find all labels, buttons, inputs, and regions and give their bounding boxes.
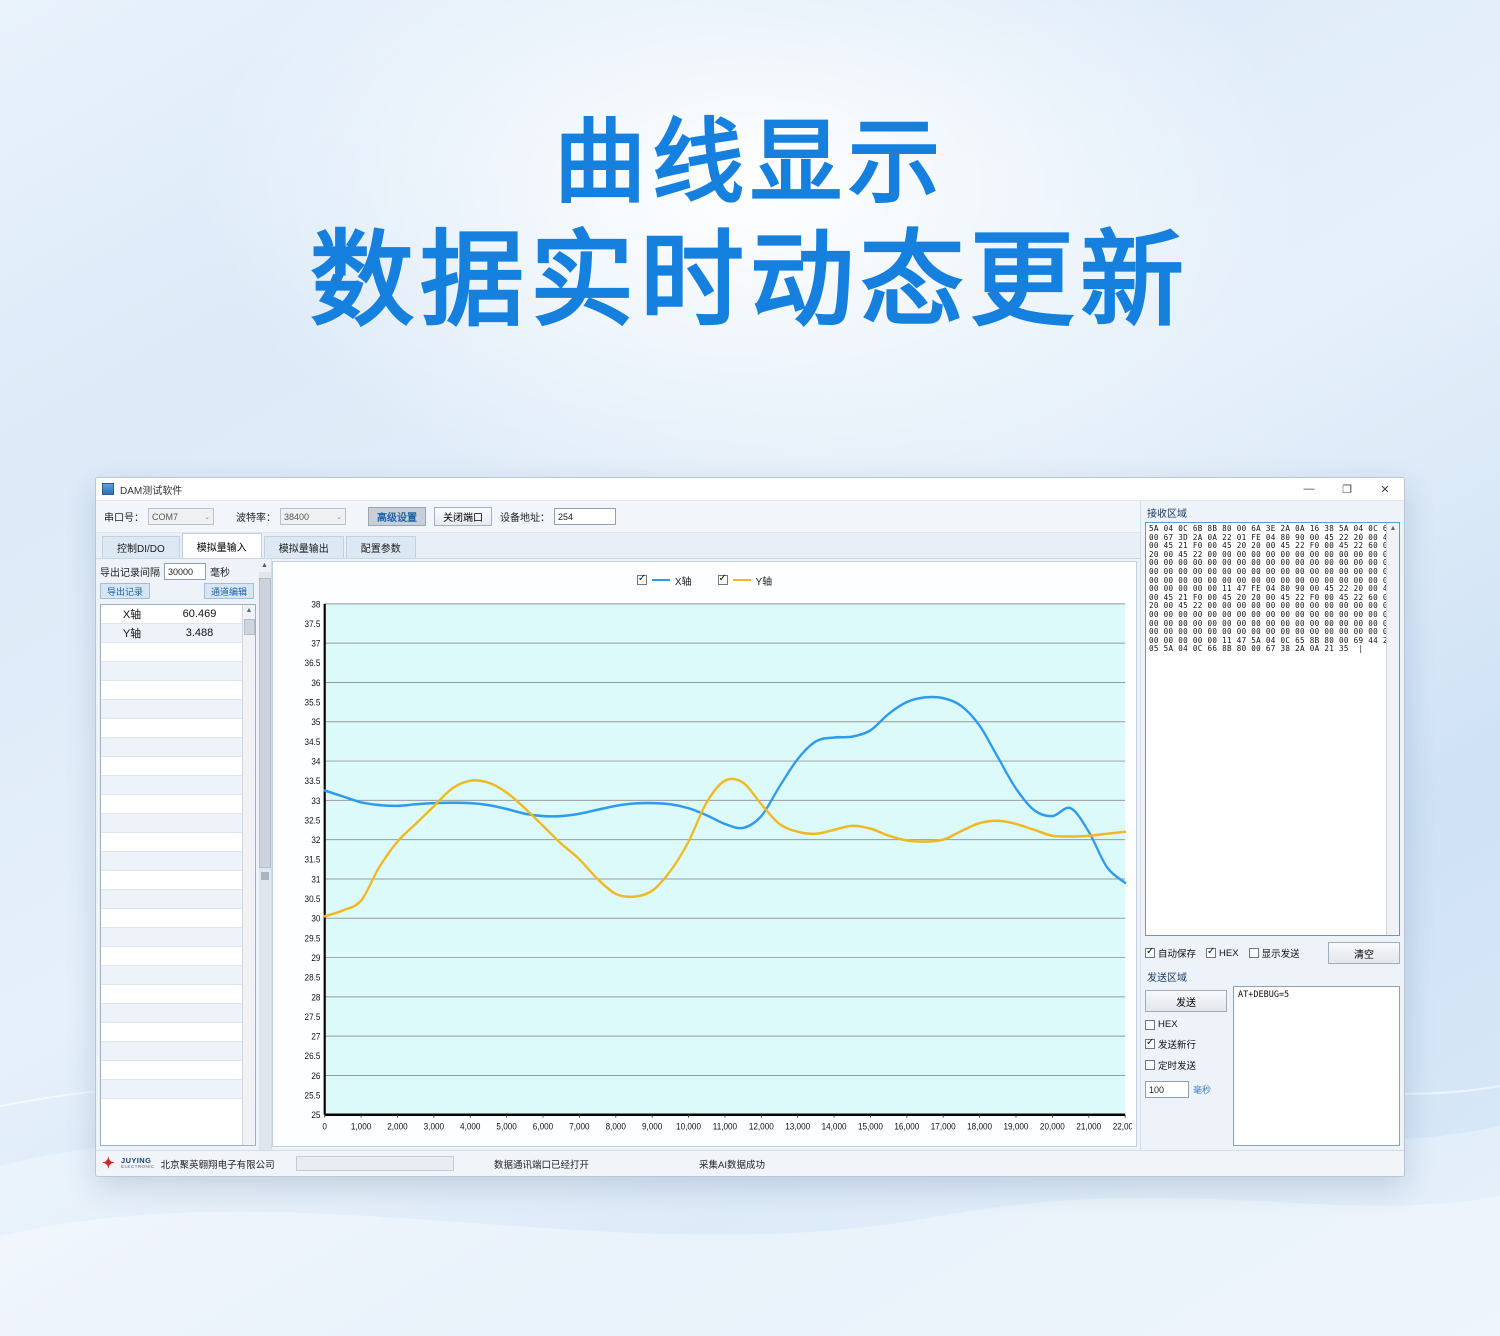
table-row[interactable]: X轴 60.469 — [101, 605, 242, 624]
table-row-empty — [101, 966, 242, 985]
scrollbar-thumb[interactable] — [259, 578, 271, 868]
table-row-empty — [101, 928, 242, 947]
receive-hex-label: HEX — [1219, 948, 1239, 959]
channel-edit-button[interactable]: 通道编辑 — [204, 583, 254, 599]
table-row-empty — [101, 1023, 242, 1042]
legend-checkbox-x-icon[interactable] — [637, 575, 647, 585]
table-row-empty — [101, 700, 242, 719]
sidebar-actions: 导出记录 通道编辑 — [100, 583, 254, 599]
svg-text:37.5: 37.5 — [305, 618, 321, 629]
title-bar: DAM测试软件 — ❐ ✕ — [96, 478, 1404, 501]
svg-text:17,000: 17,000 — [931, 1121, 956, 1132]
advanced-settings-button[interactable]: 高级设置 — [368, 507, 426, 526]
svg-text:18,000: 18,000 — [967, 1121, 992, 1132]
tab-config-params[interactable]: 配置参数 — [346, 536, 416, 558]
close-icon[interactable]: ✕ — [1366, 478, 1404, 501]
table-row-empty — [101, 662, 242, 681]
table-row-empty — [101, 757, 242, 776]
chart-plot-area[interactable]: 2525.52626.52727.52828.52929.53030.53131… — [273, 598, 1136, 1146]
send-interval-input[interactable]: 100 — [1145, 1081, 1189, 1098]
svg-text:25: 25 — [311, 1110, 320, 1121]
maximize-icon[interactable]: ❐ — [1328, 478, 1366, 501]
svg-text:33.5: 33.5 — [305, 776, 321, 787]
tab-content: 导出记录间隔 30000 毫秒 导出记录 通道编辑 X轴 60.469 — [96, 559, 1140, 1150]
timed-send-label: 定时发送 — [1158, 1058, 1196, 1072]
table-row-empty — [101, 1042, 242, 1061]
svg-text:7,000: 7,000 — [569, 1121, 590, 1132]
table-row-empty — [101, 909, 242, 928]
svg-text:9,000: 9,000 — [642, 1121, 663, 1132]
table-row-empty — [101, 985, 242, 1004]
logo-subtitle: ELECTRONIC — [121, 1165, 155, 1170]
send-group-title: 发送区域 — [1147, 969, 1400, 984]
svg-text:33: 33 — [311, 795, 320, 806]
chart-vertical-scrollbar[interactable]: ▲ — [258, 559, 272, 1150]
svg-text:10,000: 10,000 — [676, 1121, 701, 1132]
svg-text:11,000: 11,000 — [713, 1121, 737, 1132]
table-row-empty — [101, 681, 242, 700]
table-row-empty — [101, 719, 242, 738]
svg-text:28.5: 28.5 — [305, 972, 321, 983]
channel-name: Y轴 — [101, 625, 163, 641]
show-send-label: 显示发送 — [1262, 946, 1300, 960]
svg-text:14,000: 14,000 — [822, 1121, 847, 1132]
scrollbar-grip[interactable] — [261, 872, 269, 880]
table-row-empty — [101, 1004, 242, 1023]
auto-save-label: 自动保存 — [1158, 946, 1196, 960]
baud-select[interactable]: 38400 ⌄ — [280, 508, 346, 525]
channel-value: 60.469 — [163, 608, 242, 620]
svg-text:6,000: 6,000 — [533, 1121, 554, 1132]
svg-text:0: 0 — [322, 1121, 327, 1132]
table-row-empty — [101, 871, 242, 890]
channel-table-scrollbar[interactable]: ▲ — [242, 605, 255, 1145]
timed-send-checkbox[interactable]: 定时发送 — [1145, 1058, 1219, 1072]
device-address-input[interactable]: 254 — [554, 508, 616, 525]
app-window: DAM测试软件 — ❐ ✕ 串口号： COM7 ⌄ 波特率： 38400 ⌄ 高… — [95, 477, 1405, 1177]
svg-text:31: 31 — [311, 874, 320, 885]
status-bar: ✦ JUYING ELECTRONIC 北京聚英翱翔电子有限公司 数据通讯端口已… — [96, 1150, 1404, 1176]
receive-hex-content: 5A 04 0C 6B 8B 80 00 6A 3E 2A 0A 16 38 5… — [1146, 523, 1386, 935]
svg-text:5,000: 5,000 — [496, 1121, 517, 1132]
checkbox-unchecked-icon — [1249, 948, 1259, 958]
auto-save-checkbox[interactable]: 自动保存 — [1145, 946, 1196, 960]
send-hex-checkbox[interactable]: HEX — [1145, 1019, 1219, 1030]
svg-text:20,000: 20,000 — [1040, 1121, 1065, 1132]
svg-text:35.5: 35.5 — [305, 697, 321, 708]
status-message-ai: 采集AI数据成功 — [699, 1157, 765, 1171]
table-row-empty — [101, 1080, 242, 1099]
svg-text:4,000: 4,000 — [460, 1121, 481, 1132]
export-record-button[interactable]: 导出记录 — [100, 583, 150, 599]
send-interval-unit: 毫秒 — [1193, 1083, 1211, 1096]
send-interval-row: 100 毫秒 — [1145, 1081, 1227, 1098]
svg-text:29.5: 29.5 — [305, 933, 321, 944]
send-button[interactable]: 发送 — [1145, 990, 1227, 1012]
receive-hex-checkbox[interactable]: HEX — [1206, 948, 1239, 959]
send-newline-label: 发送新行 — [1158, 1037, 1196, 1051]
juying-logo-icon: ✦ — [102, 1156, 117, 1171]
port-value: COM7 — [152, 512, 204, 522]
scrollbar-thumb[interactable] — [244, 619, 255, 635]
checkbox-unchecked-icon — [1145, 1020, 1155, 1030]
send-hex-label: HEX — [1158, 1019, 1178, 1030]
legend-item-x[interactable]: X轴 — [637, 573, 692, 588]
scroll-up-icon[interactable]: ▲ — [1390, 523, 1397, 535]
checkbox-checked-icon — [1206, 948, 1216, 958]
headline-line-1: 曲线显示 — [0, 112, 1500, 215]
table-row-empty — [101, 738, 242, 757]
status-progress-field — [296, 1156, 454, 1171]
svg-text:3,000: 3,000 — [424, 1121, 445, 1132]
send-textarea[interactable]: AT+DEBUG=5 — [1233, 986, 1400, 1146]
logo-text: JUYING ELECTRONIC — [121, 1157, 155, 1169]
svg-text:21,000: 21,000 — [1076, 1121, 1101, 1132]
checkbox-checked-icon — [1145, 948, 1155, 958]
serial-monitor-pane: 接收区域 5A 04 0C 6B 8B 80 00 6A 3E 2A 0A 16… — [1140, 501, 1404, 1150]
export-interval-label: 导出记录间隔 — [100, 564, 160, 579]
svg-text:36.5: 36.5 — [305, 658, 321, 669]
receive-textarea[interactable]: 5A 04 0C 6B 8B 80 00 6A 3E 2A 0A 16 38 5… — [1145, 522, 1400, 936]
send-newline-checkbox[interactable]: 发送新行 — [1145, 1037, 1219, 1051]
checkbox-unchecked-icon — [1145, 1060, 1155, 1070]
channel-sidebar: 导出记录间隔 30000 毫秒 导出记录 通道编辑 X轴 60.469 — [96, 559, 258, 1150]
tab-analog-output[interactable]: 模拟量输出 — [264, 536, 344, 558]
window-body: 串口号： COM7 ⌄ 波特率： 38400 ⌄ 高级设置 关闭端口 设备地址：… — [96, 501, 1404, 1150]
svg-text:1,000: 1,000 — [351, 1121, 372, 1132]
left-pane: 串口号： COM7 ⌄ 波特率： 38400 ⌄ 高级设置 关闭端口 设备地址：… — [96, 501, 1140, 1150]
svg-text:12,000: 12,000 — [749, 1121, 774, 1132]
legend-label-y: Y轴 — [756, 573, 773, 588]
receive-options: 自动保存 HEX 显示发送 清空 — [1145, 942, 1400, 964]
table-row-empty — [101, 776, 242, 795]
clear-button[interactable]: 清空 — [1328, 942, 1400, 964]
svg-text:34.5: 34.5 — [305, 736, 321, 747]
svg-text:19,000: 19,000 — [1004, 1121, 1029, 1132]
table-row-empty — [101, 795, 242, 814]
headline-line-2: 数据实时动态更新 — [0, 223, 1500, 339]
svg-text:35: 35 — [311, 717, 320, 728]
table-row-empty — [101, 947, 242, 966]
device-address-label: 设备地址： — [500, 509, 550, 524]
channel-name: X轴 — [101, 606, 163, 622]
svg-text:2,000: 2,000 — [387, 1121, 408, 1132]
export-interval-input[interactable]: 30000 — [164, 563, 206, 580]
svg-text:16,000: 16,000 — [894, 1121, 919, 1132]
svg-text:27.5: 27.5 — [305, 1011, 321, 1022]
svg-text:38: 38 — [311, 599, 320, 610]
svg-text:28: 28 — [311, 992, 320, 1003]
port-label: 串口号： — [104, 509, 144, 524]
table-row-empty — [101, 814, 242, 833]
svg-text:30: 30 — [311, 913, 320, 924]
svg-text:13,000: 13,000 — [785, 1121, 810, 1132]
company-name: 北京聚英翱翔电子有限公司 — [161, 1157, 275, 1171]
export-interval-unit: 毫秒 — [210, 564, 230, 579]
svg-text:37: 37 — [311, 638, 320, 649]
channel-table: X轴 60.469 Y轴 3.488 — [101, 605, 242, 1145]
channel-table-wrapper: X轴 60.469 Y轴 3.488 — [100, 604, 256, 1146]
status-message-port: 数据通讯端口已经打开 — [494, 1157, 589, 1171]
window-title: DAM测试软件 — [120, 482, 182, 497]
baud-value: 38400 — [284, 512, 336, 522]
legend-checkbox-y-icon[interactable] — [718, 575, 728, 585]
close-port-button[interactable]: 关闭端口 — [434, 507, 492, 526]
chevron-down-icon: ⌄ — [336, 513, 342, 521]
receive-scrollbar[interactable]: ▲ — [1386, 523, 1399, 935]
checkbox-checked-icon — [1145, 1039, 1155, 1049]
legend-color-swatch-y — [733, 579, 751, 581]
svg-text:8,000: 8,000 — [606, 1121, 627, 1132]
svg-text:25.5: 25.5 — [305, 1090, 321, 1101]
svg-text:27: 27 — [311, 1031, 320, 1042]
svg-text:31.5: 31.5 — [305, 854, 321, 865]
baud-label: 波特率： — [236, 509, 276, 524]
send-controls: 发送 HEX 发送新行 定时发送 100 毫秒 — [1145, 986, 1227, 1146]
tab-analog-input[interactable]: 模拟量输入 — [182, 533, 262, 558]
scroll-up-icon[interactable]: ▲ — [246, 605, 253, 617]
svg-text:30.5: 30.5 — [305, 894, 321, 905]
chevron-down-icon: ⌄ — [204, 513, 210, 521]
svg-text:29: 29 — [311, 952, 320, 963]
chart-legend: X轴 Y轴 — [273, 562, 1136, 598]
table-row-empty — [101, 643, 242, 662]
chart-panel: X轴 Y轴 2525.52626.52727.52828.52929.53030… — [272, 561, 1137, 1147]
svg-text:26.5: 26.5 — [305, 1051, 321, 1062]
table-row-empty — [101, 852, 242, 871]
minimize-icon[interactable]: — — [1290, 478, 1328, 501]
table-row-empty — [101, 1061, 242, 1080]
show-send-checkbox[interactable]: 显示发送 — [1249, 946, 1300, 960]
scroll-up-icon[interactable]: ▲ — [261, 559, 268, 572]
channel-value: 3.488 — [163, 627, 242, 639]
connection-toolbar: 串口号： COM7 ⌄ 波特率： 38400 ⌄ 高级设置 关闭端口 设备地址：… — [96, 501, 1140, 533]
headline: 曲线显示 数据实时动态更新 — [0, 112, 1500, 340]
company-logo: ✦ JUYING ELECTRONIC 北京聚英翱翔电子有限公司 — [102, 1156, 284, 1171]
legend-item-y[interactable]: Y轴 — [718, 573, 773, 588]
receive-group-title: 接收区域 — [1147, 505, 1400, 520]
export-interval-row: 导出记录间隔 30000 毫秒 — [100, 563, 258, 580]
table-row-empty — [101, 890, 242, 909]
table-row[interactable]: Y轴 3.488 — [101, 624, 242, 643]
scrollbar-track[interactable] — [259, 572, 271, 1150]
window-controls: — ❐ ✕ — [1290, 478, 1404, 501]
svg-text:15,000: 15,000 — [858, 1121, 883, 1132]
port-select[interactable]: COM7 ⌄ — [148, 508, 214, 525]
send-section: 发送 HEX 发送新行 定时发送 100 毫秒 — [1145, 986, 1400, 1146]
tab-control-di-do[interactable]: 控制DI/DO — [102, 536, 180, 558]
table-row-empty — [101, 833, 242, 852]
svg-text:34: 34 — [311, 756, 320, 767]
tab-bar: 控制DI/DO 模拟量输入 模拟量输出 配置参数 — [96, 533, 1140, 559]
svg-text:32: 32 — [311, 835, 320, 846]
legend-color-swatch-x — [652, 579, 670, 581]
svg-text:26: 26 — [311, 1070, 320, 1081]
svg-text:22,000: 22,000 — [1113, 1121, 1132, 1132]
svg-text:32.5: 32.5 — [305, 815, 321, 826]
svg-text:36: 36 — [311, 677, 320, 688]
legend-label-x: X轴 — [675, 573, 692, 588]
app-icon — [102, 483, 114, 495]
